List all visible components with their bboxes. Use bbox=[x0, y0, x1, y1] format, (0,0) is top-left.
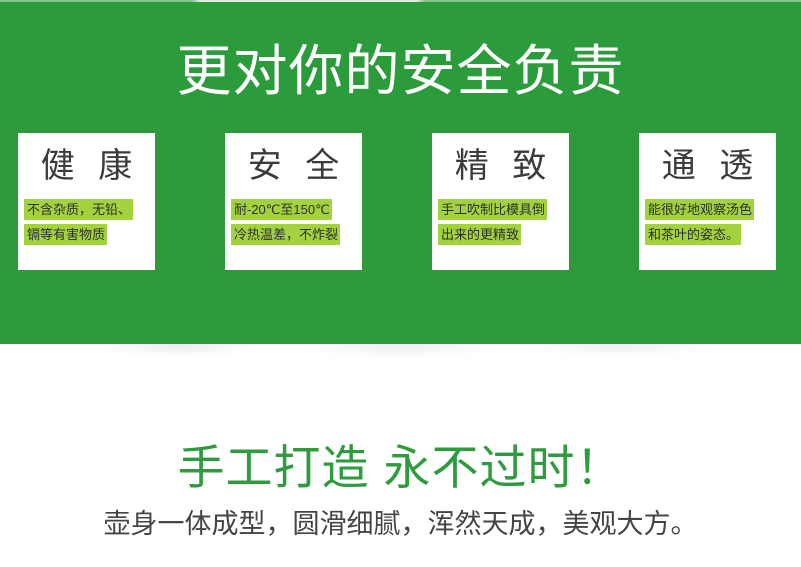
feature-card-description: 不含杂质，无铅、 镉等有害物质 bbox=[24, 199, 155, 249]
hero-banner: 更对你的安全负责 健 康 不含杂质，无铅、 镉等有害物质 安 全 耐-20℃至1… bbox=[0, 0, 801, 344]
footer-heading: 手工打造 永不过时！ bbox=[0, 440, 801, 496]
feature-card-list: 健 康 不含杂质，无铅、 镉等有害物质 安 全 耐-20℃至150℃ 冷热温差，… bbox=[18, 133, 776, 270]
feature-card-line: 手工吹制比模具倒 bbox=[438, 199, 547, 220]
feature-card-description: 手工吹制比模具倒 出来的更精致 bbox=[438, 199, 569, 249]
footer-subtitle: 壶身一体成型，圆滑细腻，浑然天成，美观大方。 bbox=[0, 507, 801, 541]
feature-card-refinement: 精 致 手工吹制比模具倒 出来的更精致 bbox=[432, 133, 569, 270]
feature-card-title: 通 透 bbox=[639, 144, 776, 188]
banner-top-highlight bbox=[0, 0, 801, 2]
feature-card-description: 能很好地观察汤色 和茶叶的姿态。 bbox=[645, 199, 776, 249]
page-title: 更对你的安全负责 bbox=[0, 40, 801, 102]
feature-card-safety: 安 全 耐-20℃至150℃ 冷热温差，不炸裂 bbox=[225, 133, 362, 270]
feature-card-line: 冷热温差，不炸裂 bbox=[231, 224, 340, 245]
feature-card-title: 安 全 bbox=[225, 144, 362, 188]
feature-card-title: 精 致 bbox=[432, 144, 569, 188]
feature-card-line: 出来的更精致 bbox=[438, 224, 521, 245]
banner-reflection bbox=[0, 344, 801, 378]
feature-card-line: 能很好地观察汤色 bbox=[645, 199, 754, 220]
feature-card-health: 健 康 不含杂质，无铅、 镉等有害物质 bbox=[18, 133, 155, 270]
feature-card-line: 和茶叶的姿态。 bbox=[645, 224, 741, 245]
feature-card-title: 健 康 bbox=[18, 144, 155, 188]
feature-card-line: 耐-20℃至150℃ bbox=[231, 199, 332, 220]
feature-card-line: 不含杂质，无铅、 bbox=[24, 199, 133, 220]
feature-card-description: 耐-20℃至150℃ 冷热温差，不炸裂 bbox=[231, 199, 362, 249]
footer-section: 手工打造 永不过时！ 壶身一体成型，圆滑细腻，浑然天成，美观大方。 bbox=[0, 440, 801, 541]
feature-card-line: 镉等有害物质 bbox=[24, 224, 107, 245]
feature-card-transparency: 通 透 能很好地观察汤色 和茶叶的姿态。 bbox=[639, 133, 776, 270]
